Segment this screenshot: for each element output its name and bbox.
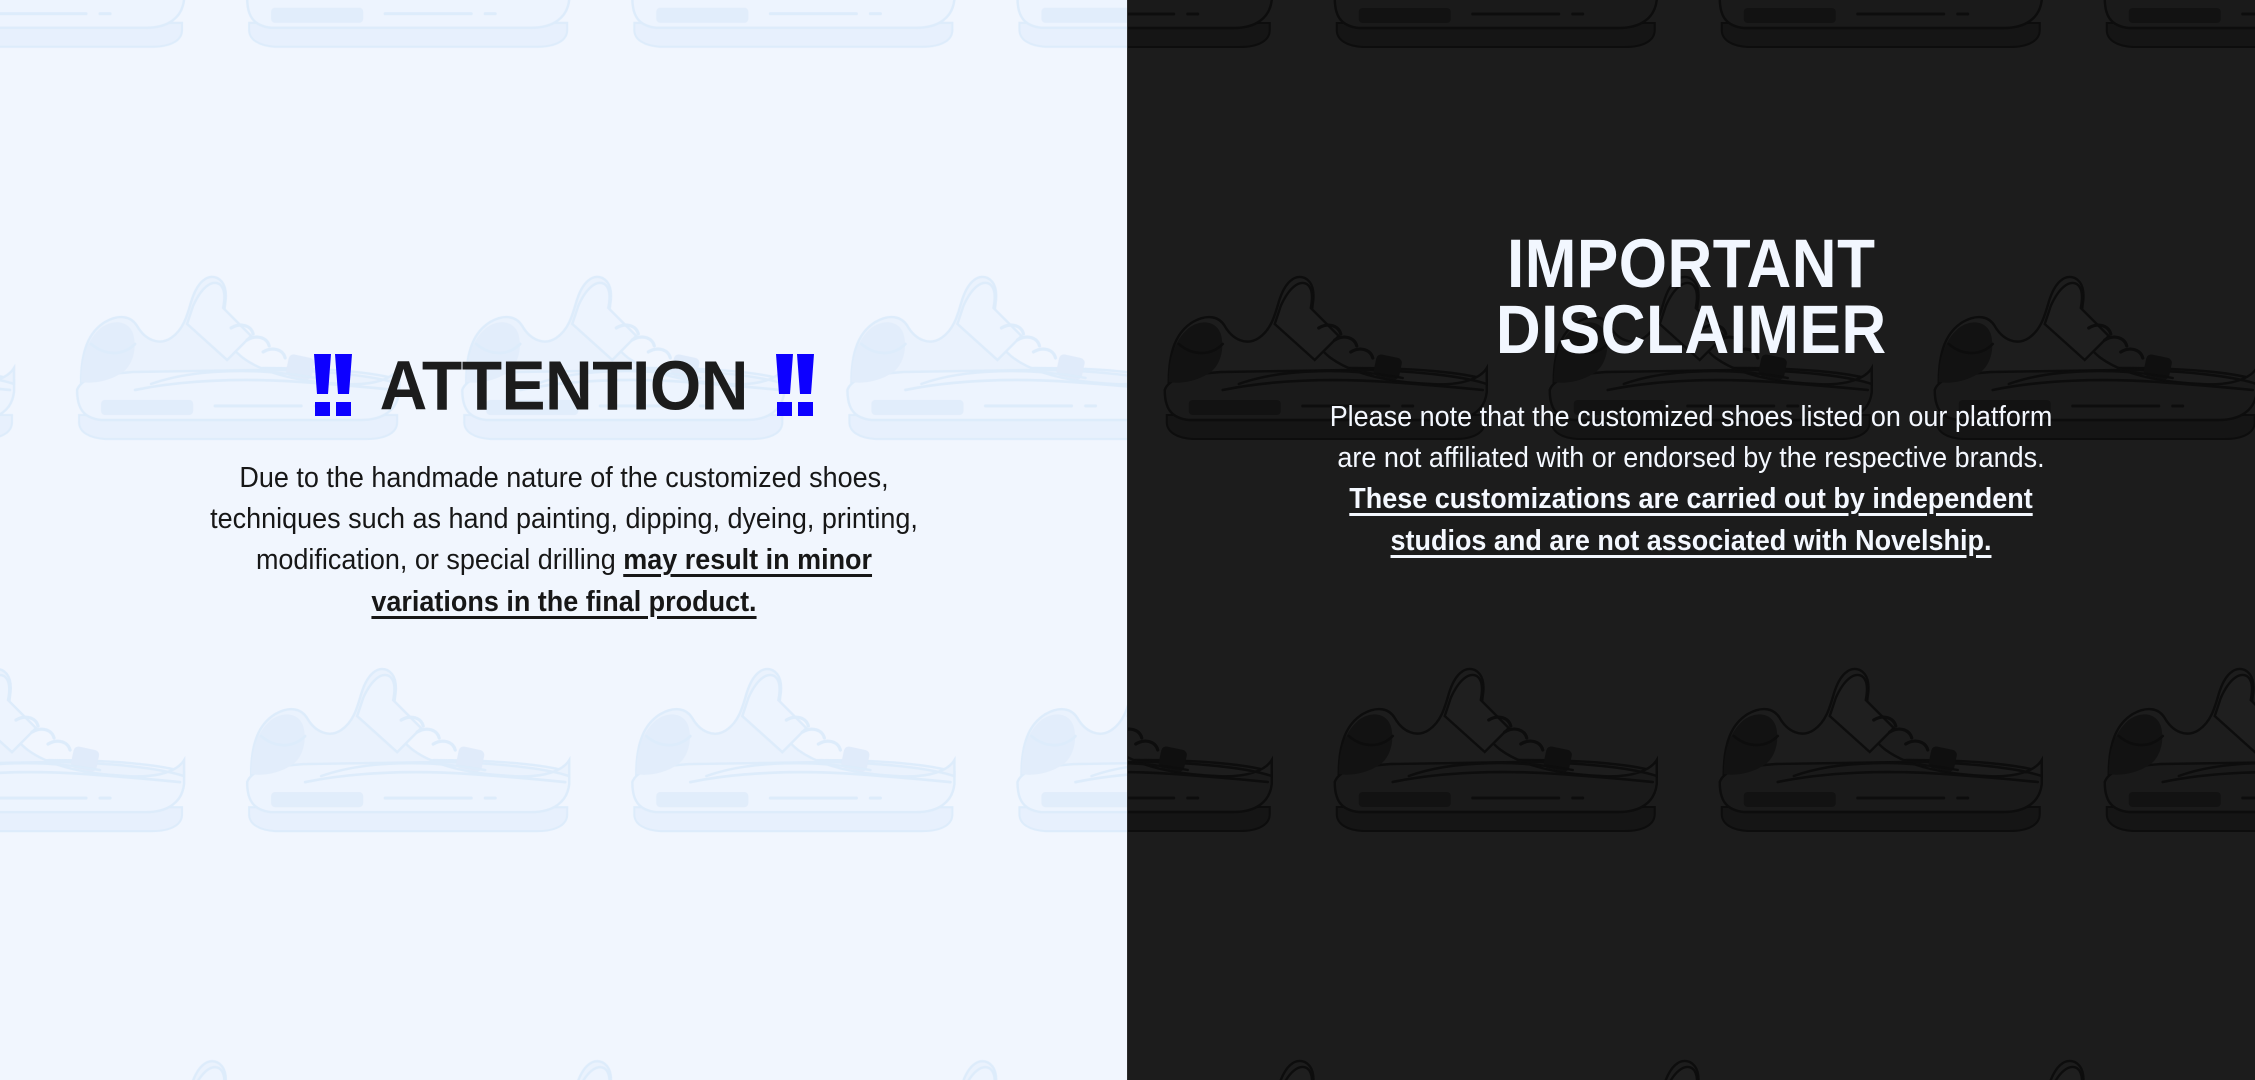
disclaimer-body-normal: Please note that the customized shoes li… [1330,401,2053,474]
disclaimer-body-emphasis: These customizations are carried out by … [1350,483,2033,556]
double-exclamation-icon-left [312,352,354,418]
double-exclamation-icon-right [774,352,816,418]
attention-content: ATTENTION Due to the handmade nature of … [0,0,1128,623]
attention-body-text: Due to the handmade nature of the custom… [192,458,936,623]
disclaimer-headline: IMPORTANT DISCLAIMER [1496,232,1887,363]
disclaimer-body-text: Please note that the customized shoes li… [1310,397,2073,562]
disclaimer-heading-line-1: IMPORTANT [1496,232,1887,297]
disclaimer-content: IMPORTANT DISCLAIMER Please note that th… [1128,0,2255,562]
customization-notice-banner: ATTENTION Due to the handmade nature of … [0,0,2255,1080]
attention-panel: ATTENTION Due to the handmade nature of … [0,0,1128,1080]
disclaimer-heading-line-2: DISCLAIMER [1496,297,1887,362]
disclaimer-panel: IMPORTANT DISCLAIMER Please note that th… [1128,0,2255,1080]
attention-headline: ATTENTION [312,352,816,418]
attention-heading-text: ATTENTION [380,350,748,420]
panel-divider [1127,0,1128,1080]
